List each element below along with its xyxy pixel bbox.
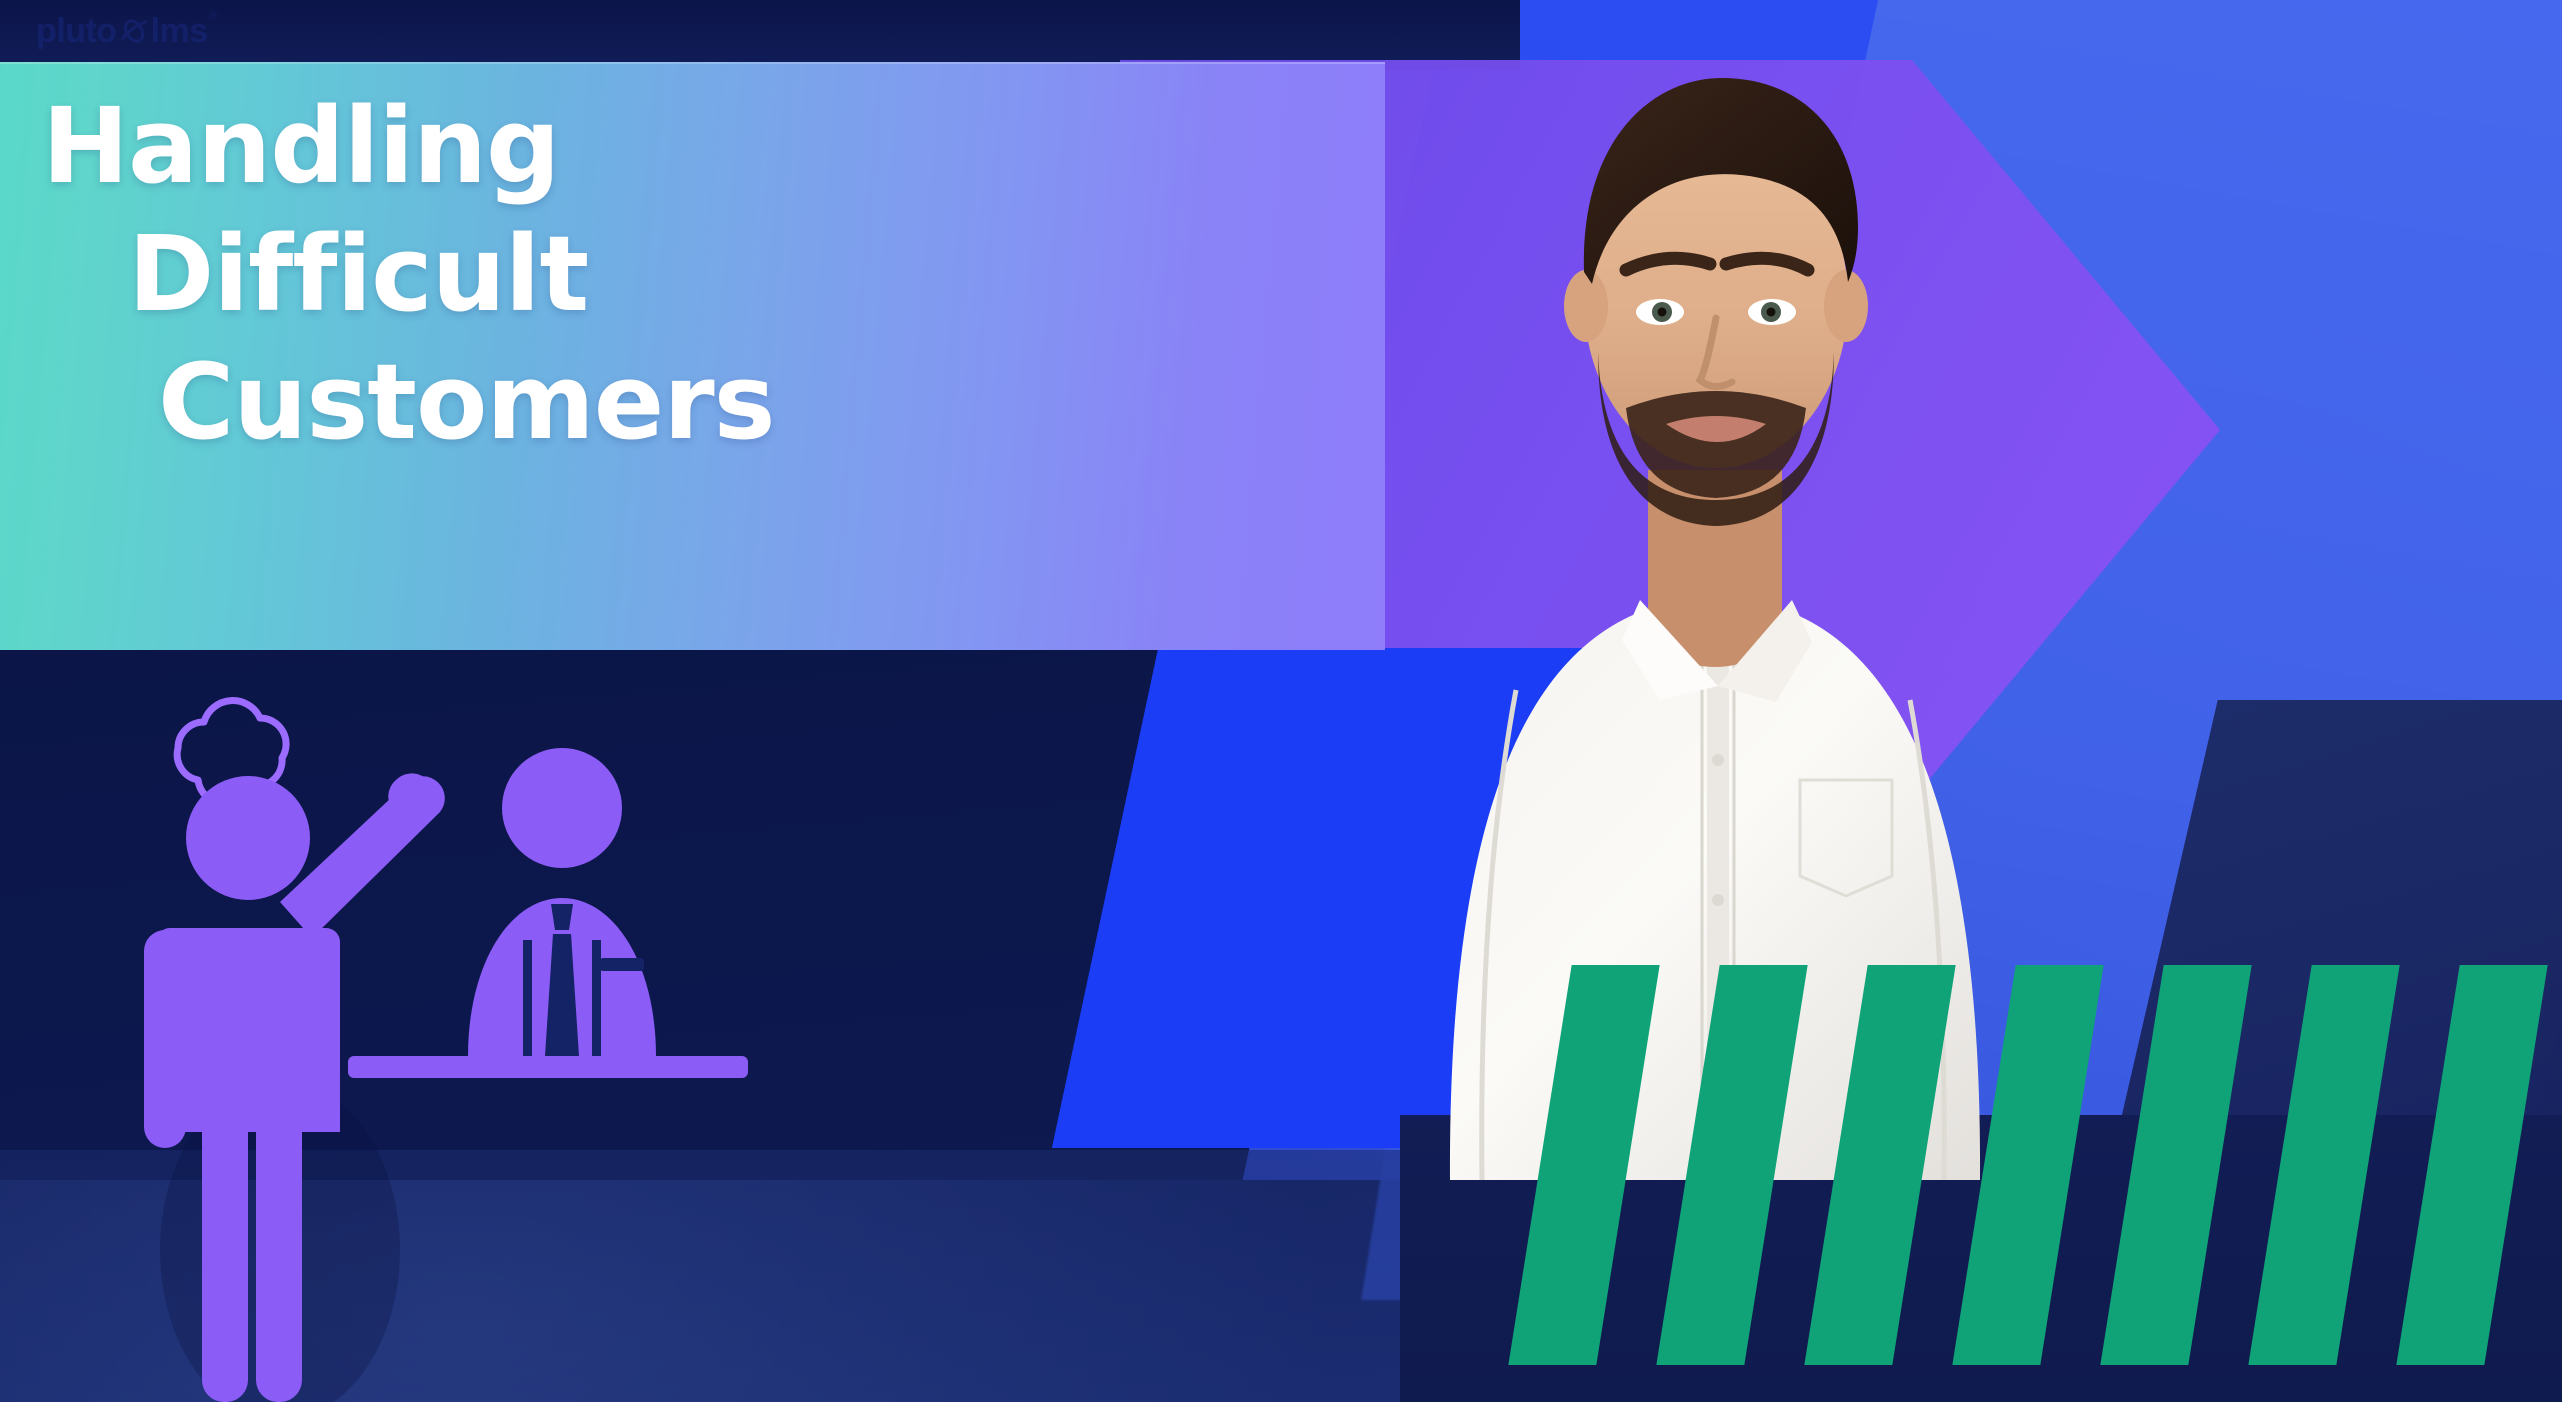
stripe-6	[2248, 965, 2399, 1365]
angry-customer-pictogram	[130, 690, 750, 1402]
stripe-2	[1656, 965, 1807, 1365]
title-banner: Handling Difficult Customers	[0, 62, 1385, 650]
stripe-3	[1804, 965, 1955, 1365]
title-banner-inner: Handling Difficult Customers	[32, 72, 1385, 650]
title-line-2: Difficult	[128, 222, 1385, 326]
stripe-4	[1952, 965, 2103, 1365]
logo-text-right: lms	[151, 14, 208, 48]
presenter-head	[1564, 78, 1868, 526]
title-line-3: Customers	[158, 350, 1385, 454]
service-counter-icon	[348, 1056, 748, 1078]
stripe-7	[2396, 965, 2547, 1365]
stripe-5	[2100, 965, 2251, 1365]
title-slide: pluto lms ® Handling Difficult Customers	[0, 0, 2562, 1402]
logo-text-left: pluto	[36, 14, 117, 48]
title-line-1: Handling	[42, 94, 1385, 198]
pluto-orbit-icon	[119, 16, 149, 46]
green-diagonal-stripes	[1540, 965, 2562, 1365]
logo-trademark: ®	[210, 10, 218, 22]
pluto-lms-logo[interactable]: pluto lms ®	[36, 8, 246, 54]
